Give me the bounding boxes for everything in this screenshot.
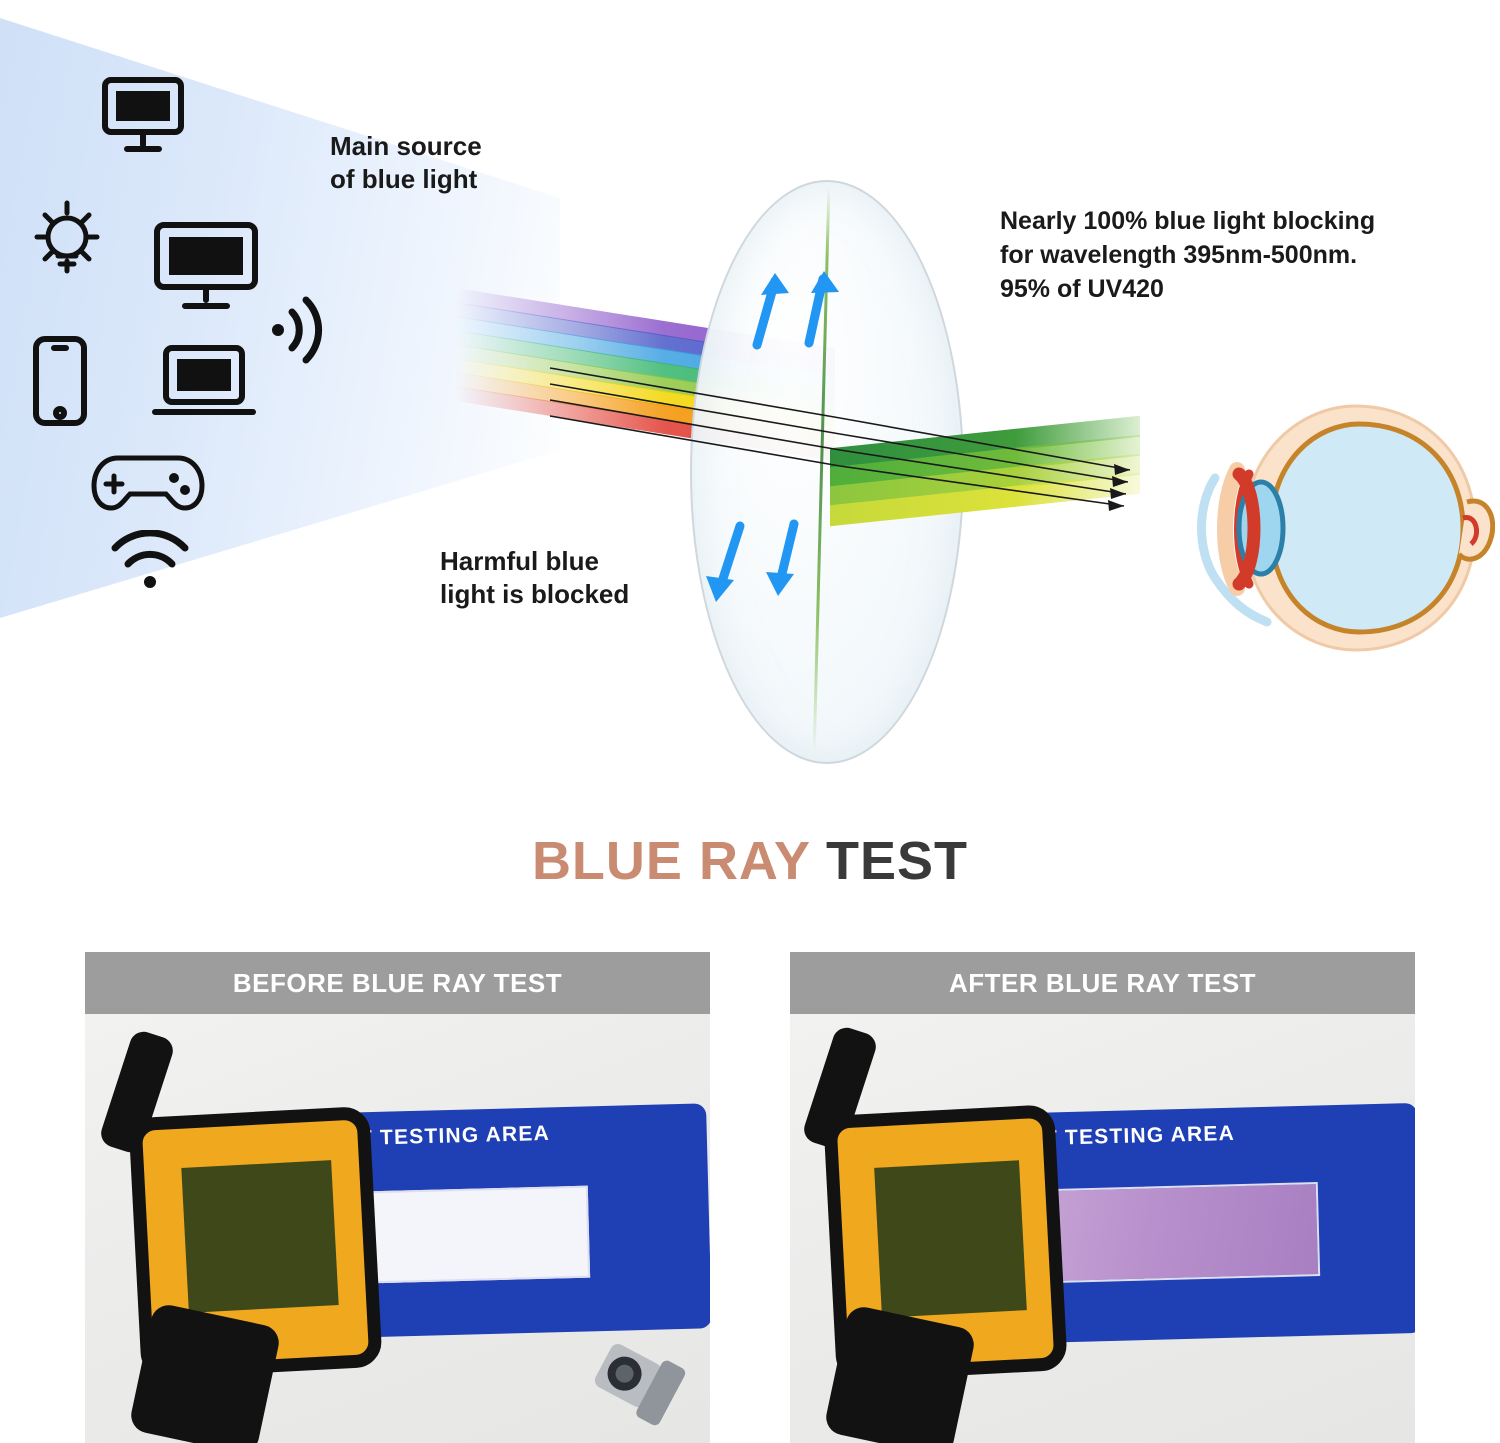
eye-anatomy-icon (1175, 378, 1495, 678)
label-blocked: Harmful blue light is blocked (440, 545, 629, 610)
before-lens-dark-overlay (181, 1160, 338, 1313)
before-test-photo: BEFORE BLUE RAY TEST BLUE LIGHT TESTING … (85, 952, 710, 1443)
device-icon-group (0, 40, 330, 620)
blue-light-diagram: Main source of blue light Harmful blue l… (0, 0, 1500, 800)
title-highlight: BLUE RAY (532, 831, 826, 891)
reflected-blue-arrows-up (735, 265, 845, 355)
lightbulb-icon (22, 195, 112, 281)
desktop-monitor-icon (152, 220, 260, 312)
gamepad-icon (88, 440, 208, 518)
before-flashlight (590, 1336, 710, 1443)
wireless-waves-icon (95, 530, 205, 594)
title-rest: TEST (826, 831, 968, 891)
after-lens-dark-overlay (874, 1160, 1027, 1317)
laptop-icon (150, 340, 258, 424)
reflected-blue-arrows-down (700, 510, 820, 610)
smartphone-icon (30, 335, 90, 427)
monitor-icon (100, 75, 186, 155)
label-main-source: Main source of blue light (330, 130, 482, 195)
before-test-header: BEFORE BLUE RAY TEST (85, 952, 710, 1014)
after-test-header: AFTER BLUE RAY TEST (790, 952, 1415, 1014)
before-test-image: BLUE LIGHT TESTING AREA (85, 1014, 710, 1443)
before-glasses-frame-bottom (128, 1302, 282, 1443)
after-test-photo: AFTER BLUE RAY TEST BLUE LIGHT TESTING A… (790, 952, 1415, 1443)
label-blocking-spec: Nearly 100% blue light blocking for wave… (1000, 205, 1375, 306)
section-title: BLUE RAY TEST (0, 830, 1500, 892)
wifi-signal-icon (268, 290, 328, 368)
after-test-image: BLUE LIGHT TESTING AREA (790, 1014, 1415, 1443)
